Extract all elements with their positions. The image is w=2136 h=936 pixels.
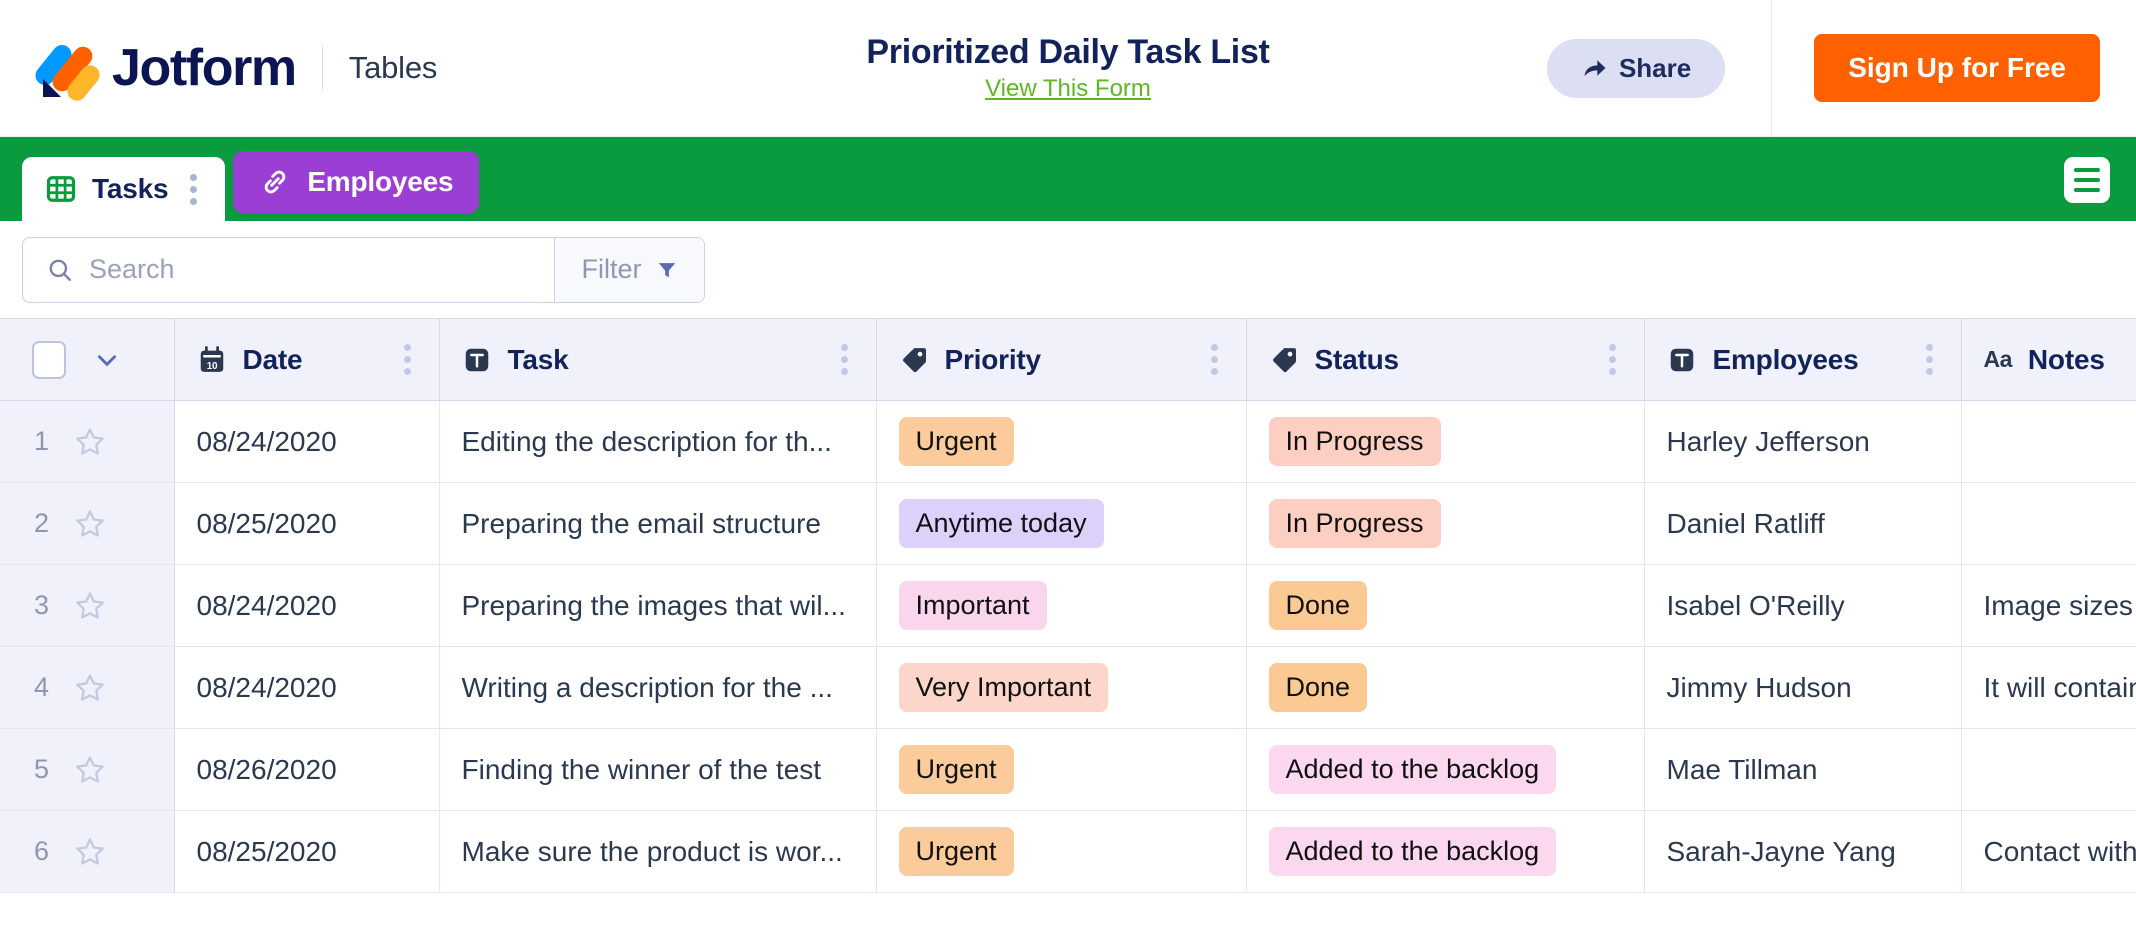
search-filter-group: Filter [22,237,705,303]
share-label: Share [1619,53,1691,84]
priority-badge: Urgent [899,417,1014,466]
cell-notes[interactable] [1961,729,2136,811]
star-icon[interactable] [74,590,106,622]
column-menu-icon-status[interactable] [1603,340,1622,379]
tab-tasks[interactable]: Tasks [22,157,225,221]
status-badge: In Progress [1269,499,1441,548]
star-icon[interactable] [74,672,106,704]
cell-notes[interactable]: It will contain bet [1961,647,2136,729]
jotform-wordmark[interactable]: Jotform [112,42,296,94]
star-icon[interactable] [74,426,106,458]
cell-status[interactable]: In Progress [1246,401,1644,483]
row-index-cell: 4 [0,647,174,729]
text-field-icon [1667,345,1697,375]
cell-task[interactable]: Preparing the email structure [439,483,876,565]
column-header-notes-label: Notes [2028,344,2105,376]
column-header-date-label: Date [243,344,303,376]
table-body: 1 08/24/2020 Editing the description for… [0,401,2136,893]
app-header: Jotform Tables Prioritized Daily Task Li… [0,0,2136,137]
row-number: 6 [34,836,50,867]
column-header-status[interactable]: Status [1246,319,1644,401]
cell-priority[interactable]: Urgent [876,401,1246,483]
row-index-cell: 3 [0,565,174,647]
cell-notes[interactable] [1961,483,2136,565]
cell-status[interactable]: Done [1246,565,1644,647]
cell-employee[interactable]: Sarah-Jayne Yang [1644,811,1961,893]
tab-tasks-menu-icon[interactable] [184,170,203,209]
cell-priority[interactable]: Urgent [876,729,1246,811]
priority-badge: Urgent [899,745,1014,794]
tab-employees-label: Employees [307,166,453,198]
row-number: 3 [34,590,50,621]
hamburger-icon[interactable] [2064,157,2110,203]
grid-icon [46,174,76,204]
row-number: 4 [34,672,50,703]
row-number: 5 [34,754,50,785]
table-row[interactable]: 4 08/24/2020 Writing a description for t… [0,647,2136,729]
cell-priority[interactable]: Urgent [876,811,1246,893]
view-this-form-link[interactable]: View This Form [985,73,1151,105]
column-header-employees-label: Employees [1713,344,1859,376]
search-icon [47,257,73,283]
priority-badge: Very Important [899,663,1109,712]
cell-date[interactable]: 08/24/2020 [174,401,439,483]
cell-task[interactable]: Writing a description for the ... [439,647,876,729]
table-row[interactable]: 1 08/24/2020 Editing the description for… [0,401,2136,483]
cell-status[interactable]: In Progress [1246,483,1644,565]
status-badge: Added to the backlog [1269,745,1557,794]
priority-badge: Anytime today [899,499,1104,548]
priority-badge: Urgent [899,827,1014,876]
cell-notes[interactable]: Image sizes shoul [1961,565,2136,647]
cell-employee[interactable]: Jimmy Hudson [1644,647,1961,729]
cell-notes[interactable]: Contact with the [1961,811,2136,893]
priority-badge: Important [899,581,1047,630]
row-number: 2 [34,508,50,539]
header-actions: Share Sign Up for Free [1547,0,2136,136]
star-icon[interactable] [74,754,106,786]
cell-notes[interactable] [1961,401,2136,483]
cell-employee[interactable]: Isabel O'Reilly [1644,565,1961,647]
column-header-status-label: Status [1315,344,1399,376]
row-index-cell: 5 [0,729,174,811]
cell-task[interactable]: Editing the description for th... [439,401,876,483]
table-row[interactable]: 6 08/25/2020 Make sure the product is wo… [0,811,2136,893]
link-icon [259,166,291,198]
star-icon[interactable] [74,836,106,868]
header-divider [1771,0,1772,137]
cell-employee[interactable]: Harley Jefferson [1644,401,1961,483]
filter-button[interactable]: Filter [554,238,704,302]
svg-text:10: 10 [206,360,217,371]
product-name[interactable]: Tables [349,50,437,86]
cell-date[interactable]: 08/25/2020 [174,811,439,893]
row-index-cell: 2 [0,483,174,565]
table-row[interactable]: 3 08/24/2020 Preparing the images that w… [0,565,2136,647]
calendar-icon: 10 [197,345,227,375]
status-badge: Added to the backlog [1269,827,1557,876]
table-row[interactable]: 2 08/25/2020 Preparing the email structu… [0,483,2136,565]
column-header-task-label: Task [508,344,569,376]
column-menu-icon-task[interactable] [835,340,854,379]
cell-employee[interactable]: Mae Tillman [1644,729,1961,811]
cell-date[interactable]: 08/24/2020 [174,565,439,647]
data-table-wrap: 10 Date Task [0,318,2136,893]
signup-button[interactable]: Sign Up for Free [1814,34,2100,102]
cell-date[interactable]: 08/24/2020 [174,647,439,729]
filter-label: Filter [582,254,642,285]
select-all-checkbox[interactable] [32,341,66,379]
cell-task[interactable]: Preparing the images that wil... [439,565,876,647]
brand-divider [322,46,323,90]
data-table: 10 Date Task [0,318,2136,893]
share-button[interactable]: Share [1547,39,1725,98]
table-header-row: 10 Date Task [0,319,2136,401]
column-menu-icon-date[interactable] [398,340,417,379]
cell-employee[interactable]: Daniel Ratliff [1644,483,1961,565]
cell-task[interactable]: Make sure the product is wor... [439,811,876,893]
column-header-employees[interactable]: Employees [1644,319,1961,401]
table-toolbar: Filter [0,221,2136,318]
column-header-priority-label: Priority [945,344,1041,376]
tag-icon [1269,345,1299,375]
row-index-cell: 1 [0,401,174,483]
brand-block: Jotform Tables [0,37,437,99]
text-field-icon [462,345,492,375]
jotform-logo-icon[interactable] [36,37,98,99]
column-header-notes[interactable]: Aa Notes [1961,319,2136,401]
star-icon[interactable] [74,508,106,540]
row-index-cell: 6 [0,811,174,893]
search-input[interactable] [89,254,554,285]
cell-status[interactable]: Added to the backlog [1246,729,1644,811]
tab-bar: Tasks Employees [0,137,2136,221]
cell-task[interactable]: Finding the winner of the test [439,729,876,811]
column-header-date[interactable]: 10 Date [174,319,439,401]
column-header-priority[interactable]: Priority [876,319,1246,401]
row-number: 1 [34,426,50,457]
cell-priority[interactable]: Very Important [876,647,1246,729]
cell-date[interactable]: 08/25/2020 [174,483,439,565]
tab-employees[interactable]: Employees [233,151,479,213]
column-menu-icon-priority[interactable] [1205,340,1224,379]
cell-date[interactable]: 08/26/2020 [174,729,439,811]
funnel-icon [656,259,678,281]
aa-text-icon: Aa [1984,346,2012,373]
tab-tasks-label: Tasks [92,173,168,205]
column-header-task[interactable]: Task [439,319,876,401]
cell-status[interactable]: Added to the backlog [1246,811,1644,893]
tag-icon [899,345,929,375]
chevron-down-icon[interactable] [94,347,120,373]
select-all-header [0,319,174,401]
column-menu-icon-employees[interactable] [1920,340,1939,379]
status-badge: Done [1269,581,1368,630]
search-field-wrap[interactable] [23,238,554,302]
status-badge: In Progress [1269,417,1441,466]
cell-status[interactable]: Done [1246,647,1644,729]
cell-priority[interactable]: Anytime today [876,483,1246,565]
cell-priority[interactable]: Important [876,565,1246,647]
share-arrow-icon [1581,54,1609,82]
status-badge: Done [1269,663,1368,712]
table-row[interactable]: 5 08/26/2020 Finding the winner of the t… [0,729,2136,811]
